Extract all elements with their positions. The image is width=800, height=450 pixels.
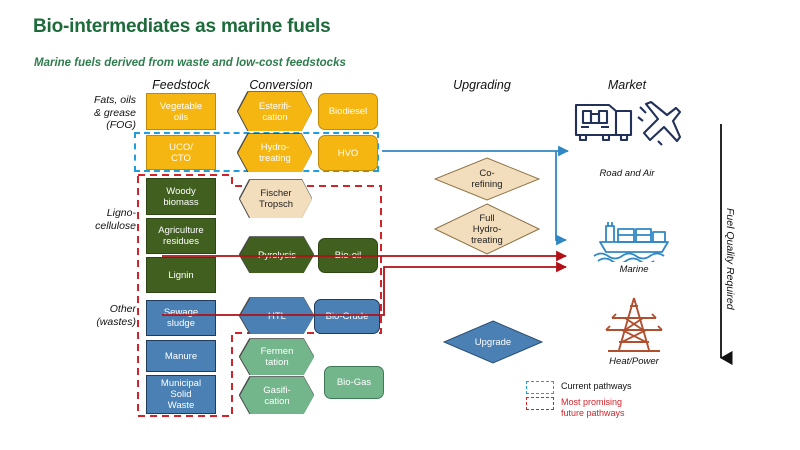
truck-icon	[576, 105, 631, 140]
node-agriculture-residues[interactable]: Agriculture residues	[146, 218, 216, 254]
node-vegetable-oils[interactable]: Vegetable oils	[146, 93, 216, 130]
node-vegetable-oils-line-1: Vegetable	[160, 101, 202, 112]
node-uco-cto-line-2: CTO	[169, 153, 193, 164]
row-label-lignocellulose-line-1: Ligno-	[54, 207, 136, 220]
node-full-hydrotreating[interactable]: Full Hydro- treating	[434, 203, 540, 255]
row-label-lignocellulose-line-2: cellulose	[54, 220, 136, 233]
node-pyrolysis[interactable]: Pyrolysis	[240, 237, 314, 273]
row-label-fog-line-3: (FOG)	[54, 119, 136, 132]
legend-label-future-pathways-line-2: future pathways	[561, 408, 625, 419]
node-woody-biomass-line-1: Woody	[163, 186, 198, 197]
page-subtitle: Marine fuels derived from waste and low-…	[34, 57, 346, 69]
node-esterification-line-1: Esterifi-	[259, 101, 291, 112]
legend-item-future-pathways: Most promising future pathways	[526, 397, 686, 418]
node-municipal-solid-waste-line-3: Waste	[161, 400, 201, 411]
node-lignin[interactable]: Lignin	[146, 257, 216, 293]
node-manure-line-1: Manure	[165, 351, 197, 362]
node-pyrolysis-line-1: Pyrolysis	[258, 250, 296, 261]
node-hvo-line-1: HVO	[338, 148, 359, 159]
node-bio-gas[interactable]: Bio-Gas	[324, 366, 384, 399]
node-fermentation-line-1: Fermen	[261, 346, 294, 357]
node-co-refining-line-1: Co-	[471, 168, 502, 179]
column-header-conversion: Conversion	[236, 78, 326, 92]
node-co-refining[interactable]: Co- refining	[434, 157, 540, 201]
column-header-market: Market	[582, 78, 672, 92]
legend: Current pathways Most promising future p…	[526, 381, 686, 418]
node-fischer-tropsch-line-1: Fischer	[259, 188, 293, 199]
node-co-refining-line-2: refining	[471, 179, 502, 190]
node-lignin-line-1: Lignin	[168, 270, 193, 281]
row-label-fog-line-1: Fats, oils	[54, 94, 136, 107]
node-fermentation-line-2: tation	[261, 357, 294, 368]
node-htl-line-1: HTL	[268, 311, 286, 322]
node-manure[interactable]: Manure	[146, 340, 216, 372]
legend-label-future-pathways: Most promising future pathways	[561, 397, 625, 418]
power-pylon-icon	[606, 298, 662, 351]
node-esterification-line-2: cation	[259, 112, 291, 123]
ship-icon	[594, 222, 668, 262]
node-htl[interactable]: HTL	[240, 298, 314, 334]
row-label-fog: Fats, oils & grease (FOG)	[54, 94, 136, 132]
legend-item-current-pathways: Current pathways	[526, 381, 686, 394]
market-icons-heat-power	[592, 296, 676, 354]
node-full-hydrotreating-line-2: Hydro-	[471, 224, 503, 235]
row-label-lignocellulose: Ligno- cellulose	[54, 207, 136, 232]
node-biodiesel-line-1: Biodiesel	[329, 106, 368, 117]
legend-swatch-red-dashed	[526, 397, 554, 410]
node-fischer-tropsch[interactable]: Fischer Tropsch	[240, 180, 312, 218]
node-hvo[interactable]: HVO	[318, 135, 378, 171]
node-woody-biomass-line-2: biomass	[163, 197, 198, 208]
connector-hvo-to-marine	[556, 151, 566, 240]
node-vegetable-oils-line-2: oils	[160, 112, 202, 123]
node-sewage-sludge-line-2: sludge	[164, 318, 198, 329]
node-esterification[interactable]: Esterifi- cation	[238, 92, 312, 131]
market-icons-road-air	[572, 95, 682, 147]
row-label-fog-line-2: & grease	[54, 107, 136, 120]
node-full-hydrotreating-line-3: treating	[471, 235, 503, 246]
node-hydrotreating-line-2: treating	[259, 153, 291, 164]
row-label-other-wastes-line-2: (wastes)	[54, 316, 136, 329]
node-upgrade-line-1: Upgrade	[475, 337, 511, 348]
node-full-hydrotreating-line-1: Full	[471, 213, 503, 224]
column-header-feedstock: Feedstock	[138, 78, 224, 92]
node-gasification-line-1: Gasifi-	[263, 385, 290, 396]
node-municipal-solid-waste[interactable]: Municipal Solid Waste	[146, 375, 216, 414]
node-hydrotreating[interactable]: Hydro- treating	[238, 134, 312, 172]
node-agriculture-residues-line-1: Agriculture	[158, 225, 203, 236]
node-sewage-sludge-line-1: Sewage	[164, 307, 198, 318]
node-bio-gas-line-1: Bio-Gas	[337, 377, 371, 388]
diagram-canvas: Bio-intermediates as marine fuels Marine…	[0, 0, 800, 450]
node-gasification-line-2: cation	[263, 396, 290, 407]
node-bio-oil[interactable]: Bio-oil	[318, 238, 378, 273]
node-woody-biomass[interactable]: Woody biomass	[146, 178, 216, 215]
node-biodiesel[interactable]: Biodiesel	[318, 93, 378, 130]
node-bio-crude-line-1: Bio-Crude	[326, 311, 369, 322]
node-bio-oil-line-1: Bio-oil	[335, 250, 361, 261]
row-label-other-wastes: Other (wastes)	[54, 303, 136, 328]
node-hydrotreating-line-1: Hydro-	[259, 142, 291, 153]
legend-label-current-pathways: Current pathways	[561, 381, 632, 392]
node-sewage-sludge[interactable]: Sewage sludge	[146, 300, 216, 336]
node-uco-cto[interactable]: UCO/ CTO	[146, 135, 216, 170]
node-upgrade[interactable]: Upgrade	[443, 320, 543, 364]
market-label-heat-power: Heat/Power	[592, 356, 676, 367]
fuel-quality-axis-label: Fuel Quality Required	[724, 208, 736, 310]
legend-swatch-blue-dashed	[526, 381, 554, 394]
node-gasification[interactable]: Gasifi- cation	[240, 377, 314, 414]
market-icons-marine	[592, 212, 676, 262]
legend-label-future-pathways-line-1: Most promising	[561, 397, 625, 408]
node-bio-crude[interactable]: Bio-Crude	[314, 299, 380, 334]
node-fermentation[interactable]: Fermen tation	[240, 339, 314, 375]
node-uco-cto-line-1: UCO/	[169, 142, 193, 153]
node-municipal-solid-waste-line-2: Solid	[161, 389, 201, 400]
column-header-upgrading: Upgrading	[427, 78, 537, 92]
node-fischer-tropsch-line-2: Tropsch	[259, 199, 293, 210]
market-label-road-air: Road and Air	[572, 168, 682, 179]
node-agriculture-residues-line-2: residues	[158, 236, 203, 247]
airplane-icon	[638, 102, 680, 145]
node-municipal-solid-waste-line-1: Municipal	[161, 378, 201, 389]
row-label-other-wastes-line-1: Other	[54, 303, 136, 316]
market-label-marine: Marine	[592, 264, 676, 275]
page-title: Bio-intermediates as marine fuels	[33, 16, 331, 38]
